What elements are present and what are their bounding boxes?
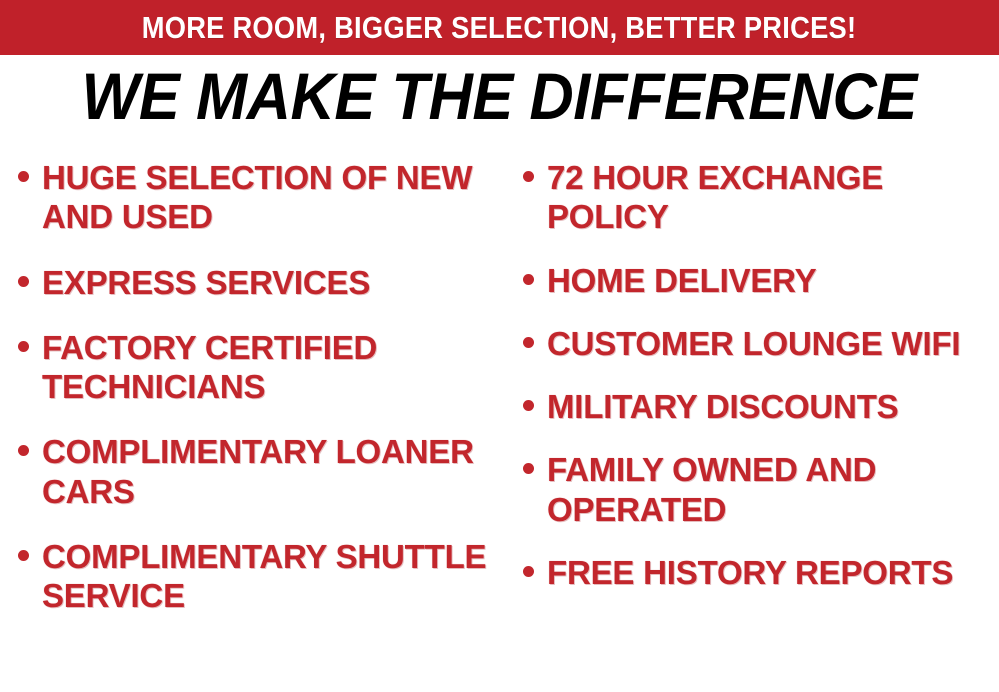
bullet-dot-icon (523, 463, 534, 474)
list-item-label: FREE HISTORY REPORTS (547, 553, 997, 592)
bullet-dot-icon (523, 171, 534, 182)
promo-banner-text: MORE ROOM, BIGGER SELECTION, BETTER PRIC… (142, 12, 857, 43)
bullet-dot-icon (523, 274, 534, 285)
bullet-dot-icon (18, 550, 29, 561)
list-item: HOME DELIVERY (523, 261, 997, 300)
promo-banner: MORE ROOM, BIGGER SELECTION, BETTER PRIC… (0, 0, 999, 55)
list-item-label: HOME DELIVERY (547, 261, 997, 300)
list-item-label: EXPRESS SERVICES (42, 263, 501, 302)
list-item: FACTORY CERTIFIED TECHNICIANS (18, 328, 501, 407)
list-item: MILITARY DISCOUNTS (523, 387, 997, 426)
list-item-label: HUGE SELECTION OF NEW AND USED (42, 158, 501, 237)
headline: WE MAKE THE DIFFERENCE (0, 62, 999, 131)
benefits-column-left: HUGE SELECTION OF NEW AND USED EXPRESS S… (0, 158, 505, 641)
advertisement-banner: MORE ROOM, BIGGER SELECTION, BETTER PRIC… (0, 0, 999, 692)
list-item-label: 72 HOUR EXCHANGE POLICY (547, 158, 997, 237)
list-item-label: CUSTOMER LOUNGE WIFI (547, 324, 997, 363)
benefits-columns: HUGE SELECTION OF NEW AND USED EXPRESS S… (0, 158, 999, 692)
list-item-label: COMPLIMENTARY LOANER CARS (42, 432, 501, 511)
benefits-column-right: 72 HOUR EXCHANGE POLICY HOME DELIVERY CU… (505, 158, 999, 616)
bullet-dot-icon (18, 276, 29, 287)
list-item: CUSTOMER LOUNGE WIFI (523, 324, 997, 363)
bullet-dot-icon (18, 171, 29, 182)
bullet-dot-icon (18, 445, 29, 456)
list-item: COMPLIMENTARY LOANER CARS (18, 432, 501, 511)
headline-text: WE MAKE THE DIFFERENCE (82, 62, 917, 131)
bullet-dot-icon (523, 337, 534, 348)
list-item: HUGE SELECTION OF NEW AND USED (18, 158, 501, 237)
list-item-label: FACTORY CERTIFIED TECHNICIANS (42, 328, 501, 407)
list-item: FAMILY OWNED AND OPERATED (523, 450, 997, 529)
list-item: 72 HOUR EXCHANGE POLICY (523, 158, 997, 237)
bullet-dot-icon (18, 341, 29, 352)
list-item: EXPRESS SERVICES (18, 263, 501, 302)
bullet-dot-icon (523, 566, 534, 577)
list-item-label: FAMILY OWNED AND OPERATED (547, 450, 997, 529)
list-item-label: MILITARY DISCOUNTS (547, 387, 997, 426)
bullet-dot-icon (523, 400, 534, 411)
list-item: COMPLIMENTARY SHUTTLE SERVICE (18, 537, 501, 616)
list-item-label: COMPLIMENTARY SHUTTLE SERVICE (42, 537, 501, 616)
list-item: FREE HISTORY REPORTS (523, 553, 997, 592)
